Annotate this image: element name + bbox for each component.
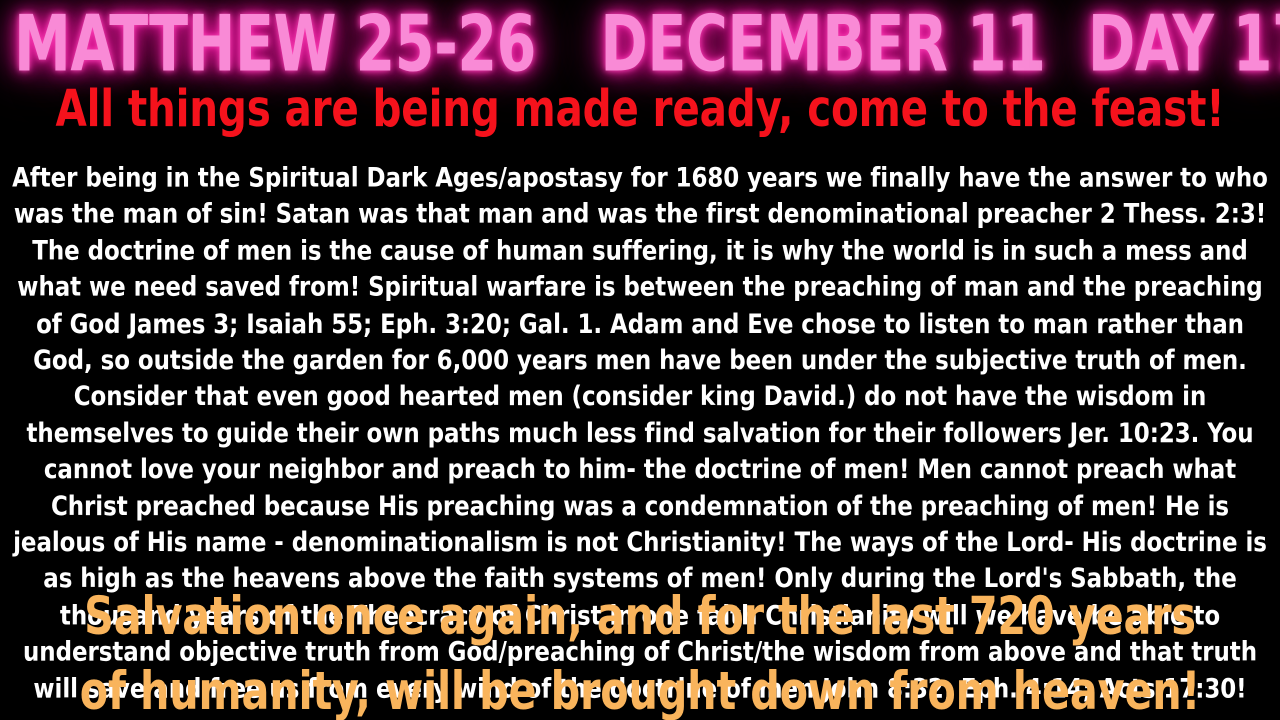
- scripture-reference: MATTHEW 25-26: [14, 2, 536, 87]
- sermon-slide: MATTHEW 25-26 DECEMBER 11 DAY 175 All th…: [0, 0, 1280, 720]
- headline-text: All things are being made ready, come to…: [16, 80, 1264, 138]
- date-label: DECEMBER 11: [601, 2, 1046, 87]
- day-counter: DAY 175: [1088, 2, 1280, 87]
- header-row: MATTHEW 25-26 DECEMBER 11 DAY 175: [0, 2, 1280, 86]
- footer-statement: Salvation once again, and for the last 7…: [60, 578, 1220, 720]
